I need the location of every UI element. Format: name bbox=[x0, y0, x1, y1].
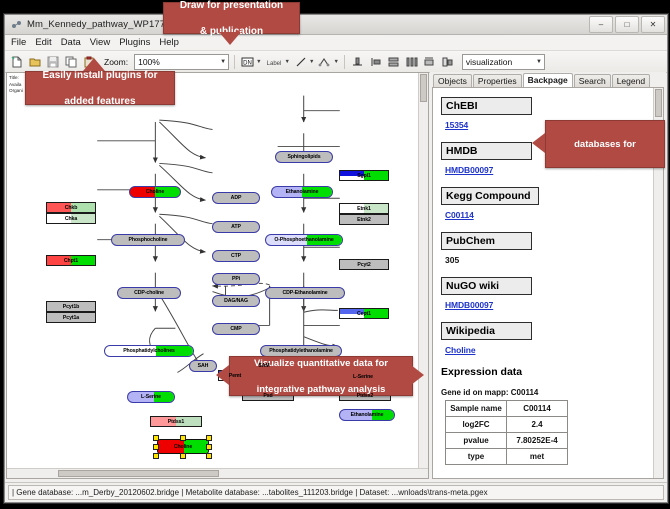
node-choline-top[interactable]: Choline bbox=[129, 186, 181, 198]
node-label: Chkb bbox=[65, 205, 78, 211]
node-pcyt1a[interactable]: Pcyt1a bbox=[46, 312, 96, 323]
node-label: CDP-Ethanolamine bbox=[282, 290, 327, 296]
db-link-nugo-wiki[interactable]: HMDB00097 bbox=[445, 300, 654, 310]
chevron-down-icon[interactable]: ▼ bbox=[309, 59, 314, 65]
callout-line: databases for bbox=[560, 137, 650, 152]
callout-draw-for-publication: Draw for presentation & publication bbox=[163, 2, 300, 34]
table-row: type met bbox=[446, 449, 568, 465]
node-label: ADP bbox=[231, 195, 242, 201]
zoom-combo[interactable]: 100% ▼ bbox=[134, 54, 229, 70]
toolbar-separator bbox=[344, 55, 345, 69]
expr-key: log2FC bbox=[446, 417, 507, 433]
callout-pointer-down-icon bbox=[219, 32, 241, 45]
node-ppi[interactable]: PPi bbox=[212, 273, 260, 285]
window-controls[interactable]: – □ ✕ bbox=[589, 16, 665, 33]
sidebar-tabs: Objects Properties Backpage Search Legen… bbox=[430, 72, 666, 87]
callout-line: Link to external bbox=[560, 107, 650, 122]
open-folder-icon[interactable] bbox=[27, 54, 42, 69]
menu-item-help[interactable]: Help bbox=[159, 37, 179, 48]
callout-line: added features bbox=[36, 95, 163, 108]
table-row: Sample name C00114 bbox=[446, 401, 568, 417]
size-icon[interactable] bbox=[422, 54, 437, 69]
shape-tool-icon[interactable] bbox=[317, 54, 332, 69]
node-label: Phosphatidylcholines bbox=[123, 348, 175, 354]
node-label: ATP bbox=[231, 224, 241, 230]
chevron-down-icon[interactable]: ▼ bbox=[285, 59, 290, 65]
db-header-chebi: ChEBI bbox=[441, 97, 532, 115]
callout-link-to-external-databases: Link to external databases for more info… bbox=[545, 120, 665, 168]
node-choline-selected[interactable]: Choline bbox=[157, 439, 209, 454]
db-header-nugo-wiki: NuGO wiki bbox=[441, 277, 532, 295]
callout-line: Visualize quantitative data for bbox=[248, 357, 394, 370]
pathway-canvas[interactable]: Title:AvailaOrgani bbox=[6, 72, 429, 479]
status-bar: | Gene database: ...m_Derby_20120602.bri… bbox=[5, 482, 667, 502]
node-pcyt1b[interactable]: Pcyt1b bbox=[46, 301, 96, 312]
datanode-icon[interactable]: DN bbox=[240, 54, 255, 69]
app-icon bbox=[11, 19, 22, 30]
label-tool-icon[interactable]: Label bbox=[265, 54, 284, 69]
align-top-icon[interactable] bbox=[350, 54, 365, 69]
align-left-icon[interactable] bbox=[368, 54, 383, 69]
expr-key: pvalue bbox=[446, 433, 507, 449]
expr-value: C00114 bbox=[507, 401, 568, 417]
node-chka[interactable]: Chka bbox=[46, 213, 96, 224]
node-dag-nag[interactable]: DAG/NAG bbox=[212, 295, 260, 307]
callout-pointer-left-icon bbox=[532, 133, 545, 153]
node-ethanolamine-right[interactable]: Ethanolamine bbox=[339, 409, 395, 421]
node-label: CDP-choline bbox=[134, 290, 164, 296]
node-label: SAH bbox=[198, 363, 209, 369]
node-label: DAG/NAG bbox=[224, 298, 248, 304]
menu-item-view[interactable]: View bbox=[90, 37, 110, 48]
callout-visualize-quantitative-data: Visualize quantitative data for integrat… bbox=[229, 356, 413, 396]
tab-objects[interactable]: Objects bbox=[433, 74, 472, 87]
node-atp[interactable]: ATP bbox=[212, 221, 260, 233]
order-icon[interactable] bbox=[440, 54, 455, 69]
screenshot-root: Mm_Kennedy_pathway_WP1771_45176.gpml – □… bbox=[0, 0, 670, 509]
callout-pointer-up-icon bbox=[83, 58, 105, 71]
menu-item-edit[interactable]: Edit bbox=[35, 37, 51, 48]
node-label: SAM bbox=[258, 363, 269, 369]
expression-data-heading: Expression data bbox=[441, 366, 654, 378]
tab-legend[interactable]: Legend bbox=[612, 74, 650, 87]
svg-text:Label: Label bbox=[266, 61, 281, 67]
node-label: CTP bbox=[231, 253, 241, 259]
gene-id-on-mapp: Gene id on mapp: C00114 bbox=[441, 388, 654, 397]
copy-icon[interactable] bbox=[63, 54, 78, 69]
expr-key: Sample name bbox=[446, 401, 507, 417]
node-chkb[interactable]: Chkb bbox=[46, 202, 96, 213]
close-button[interactable]: ✕ bbox=[641, 16, 665, 33]
node-cdp-choline[interactable]: CDP-choline bbox=[117, 287, 181, 299]
db-header-wikipedia: Wikipedia bbox=[441, 322, 532, 340]
node-label: Psd bbox=[263, 393, 272, 399]
callout-easily-install-plugins: Easily install plugins for added feature… bbox=[25, 71, 175, 105]
node-cmp[interactable]: CMP bbox=[212, 323, 260, 335]
node-ctp[interactable]: CTP bbox=[212, 250, 260, 262]
node-sphingolipids[interactable]: Sphingolipids bbox=[275, 151, 333, 163]
menu-item-file[interactable]: File bbox=[11, 37, 26, 48]
db-link-wikipedia[interactable]: Choline bbox=[445, 345, 654, 355]
menu-item-data[interactable]: Data bbox=[61, 37, 81, 48]
node-etnk1[interactable]: Etnk1 bbox=[339, 203, 389, 214]
node-label: Etnk2 bbox=[357, 217, 371, 223]
node-label: PPi bbox=[232, 276, 240, 282]
chevron-down-icon: ▼ bbox=[536, 59, 542, 65]
minimize-button[interactable]: – bbox=[589, 16, 613, 33]
node-label: Chpt1 bbox=[64, 258, 78, 264]
tab-backpage[interactable]: Backpage bbox=[523, 73, 573, 87]
node-label: CMP bbox=[230, 326, 241, 332]
node-label: Sgpl1 bbox=[357, 173, 371, 179]
callout-line: more information bbox=[560, 167, 650, 182]
node-label: Pcyt1b bbox=[63, 304, 79, 310]
callout-line: Draw for presentation bbox=[174, 0, 289, 12]
expr-value: 7.80252E-4 bbox=[507, 433, 568, 449]
db-header-kegg-compound: Kegg Compound bbox=[441, 187, 539, 205]
save-icon[interactable] bbox=[45, 54, 60, 69]
expression-table: Sample name C00114 log2FC 2.4 pvalue 7.8… bbox=[445, 400, 568, 465]
title-bar: Mm_Kennedy_pathway_WP1771_45176.gpml – □… bbox=[5, 15, 667, 35]
svg-text:DN: DN bbox=[243, 60, 252, 66]
distribute-icon[interactable] bbox=[404, 54, 419, 69]
status-text: | Gene database: ...m_Derby_20120602.bri… bbox=[12, 488, 488, 497]
node-adp[interactable]: ADP bbox=[212, 192, 260, 204]
node-label: Ptdss2 bbox=[357, 393, 373, 399]
new-file-icon[interactable] bbox=[9, 54, 24, 69]
expr-key: type bbox=[446, 449, 507, 465]
node-pcyt2[interactable]: Pcyt2 bbox=[339, 259, 389, 270]
node-sgpl1[interactable]: Sgpl1 bbox=[339, 170, 389, 181]
node-phosphatidylcholines[interactable]: Phosphatidylcholines bbox=[104, 345, 194, 357]
node-label: Choline bbox=[146, 189, 164, 195]
node-ethanolamine-top[interactable]: Ethanolamine bbox=[271, 186, 333, 198]
menu-bar: File Edit Data View Plugins Help bbox=[5, 35, 667, 51]
callout-pointer-left-icon bbox=[216, 365, 229, 385]
expr-value: met bbox=[507, 449, 568, 465]
zoom-value: 100% bbox=[138, 57, 160, 67]
node-cept1[interactable]: Cept1 bbox=[339, 308, 389, 319]
chevron-down-icon[interactable]: ▼ bbox=[256, 59, 261, 65]
tab-search[interactable]: Search bbox=[574, 74, 611, 87]
maximize-button[interactable]: □ bbox=[615, 16, 639, 33]
node-label: Ethanolamine bbox=[351, 412, 384, 418]
node-label: Cept1 bbox=[357, 311, 371, 317]
canvas-hscrollbar[interactable] bbox=[7, 468, 428, 478]
node-label: Phosphocholine bbox=[129, 237, 168, 243]
node-label: Pcyt2 bbox=[357, 262, 370, 268]
stack-icon[interactable] bbox=[386, 54, 401, 69]
toolbar-separator bbox=[234, 55, 235, 69]
node-phosphocholine[interactable]: Phosphocholine bbox=[111, 234, 185, 246]
node-label: Ethanolamine bbox=[286, 189, 319, 195]
node-label: Choline bbox=[174, 444, 192, 450]
zoom-label: Zoom: bbox=[104, 57, 128, 67]
line-tool-icon[interactable] bbox=[293, 54, 308, 69]
chevron-down-icon[interactable]: ▼ bbox=[333, 59, 338, 65]
node-label: Ptdss1 bbox=[168, 419, 184, 425]
menu-item-plugins[interactable]: Plugins bbox=[119, 37, 150, 48]
node-label: Phosphatidylethanolamine bbox=[269, 348, 333, 354]
db-header-hmdb: HMDB bbox=[441, 142, 532, 160]
canvas-vscrollbar[interactable] bbox=[418, 73, 428, 478]
tab-properties[interactable]: Properties bbox=[473, 74, 522, 87]
node-sah[interactable]: SAH bbox=[189, 360, 217, 372]
db-value-pubchem: 305 bbox=[445, 255, 654, 265]
expr-value: 2.4 bbox=[507, 417, 568, 433]
node-label: Sphingolipids bbox=[288, 154, 321, 160]
node-label: Chka bbox=[65, 216, 77, 222]
node-chpt1[interactable]: Chpt1 bbox=[46, 255, 96, 266]
chevron-down-icon: ▼ bbox=[220, 59, 226, 65]
node-label: Pemt bbox=[229, 373, 241, 379]
node-cdp-ethanolamine[interactable]: CDP-Ethanolamine bbox=[265, 287, 345, 299]
node-label: L-Serine bbox=[353, 374, 373, 380]
node-etnk2[interactable]: Etnk2 bbox=[339, 214, 389, 225]
visualization-value: visualization bbox=[466, 57, 512, 67]
callout-pointer-right-icon bbox=[411, 365, 424, 385]
node-label: O-Phosphoethanolamine bbox=[274, 237, 333, 243]
node-ptdss1[interactable]: Ptdss1 bbox=[150, 416, 202, 427]
visualization-combo[interactable]: visualization ▼ bbox=[462, 54, 545, 70]
table-row: log2FC 2.4 bbox=[446, 417, 568, 433]
node-o-phosphoethanolamine[interactable]: O-Phosphoethanolamine bbox=[265, 234, 343, 246]
node-label: L-Serine bbox=[141, 394, 161, 400]
node-l-serine-left[interactable]: L-Serine bbox=[127, 391, 175, 403]
node-label: Pcyt1a bbox=[63, 315, 79, 321]
db-header-pubchem: PubChem bbox=[441, 232, 532, 250]
db-link-kegg-compound[interactable]: C00114 bbox=[445, 210, 654, 220]
table-row: pvalue 7.80252E-4 bbox=[446, 433, 568, 449]
node-label: Etnk1 bbox=[357, 206, 371, 212]
